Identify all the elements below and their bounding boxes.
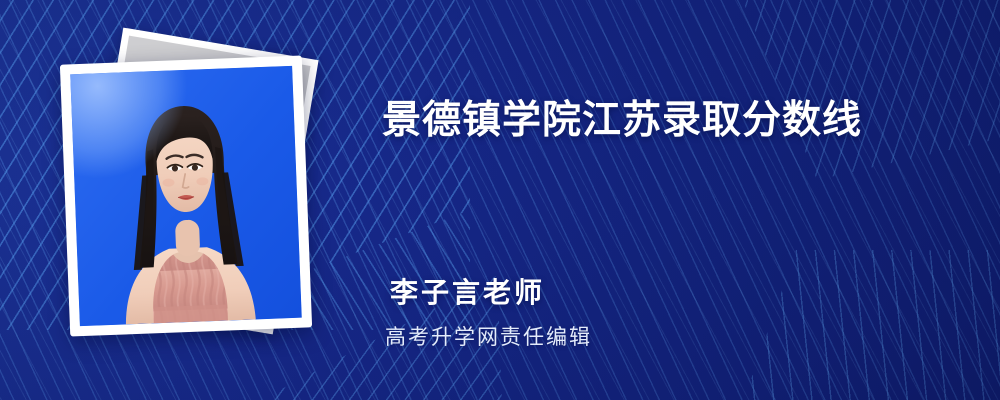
- banner-text-column: 景德镇学院江苏录取分数线 李子言老师 高考升学网责任编辑: [380, 0, 960, 400]
- author-photo-cluster: [55, 34, 345, 364]
- author-portrait-illustration: [70, 66, 302, 326]
- author-name: 李子言老师: [390, 271, 545, 311]
- photo-card-front: [60, 55, 312, 336]
- author-portrait: [70, 66, 302, 326]
- article-header-banner: 景德镇学院江苏录取分数线 李子言老师 高考升学网责任编辑: [0, 0, 1000, 400]
- author-role: 高考升学网责任编辑: [385, 321, 592, 351]
- banner-title: 景德镇学院江苏录取分数线: [382, 99, 862, 144]
